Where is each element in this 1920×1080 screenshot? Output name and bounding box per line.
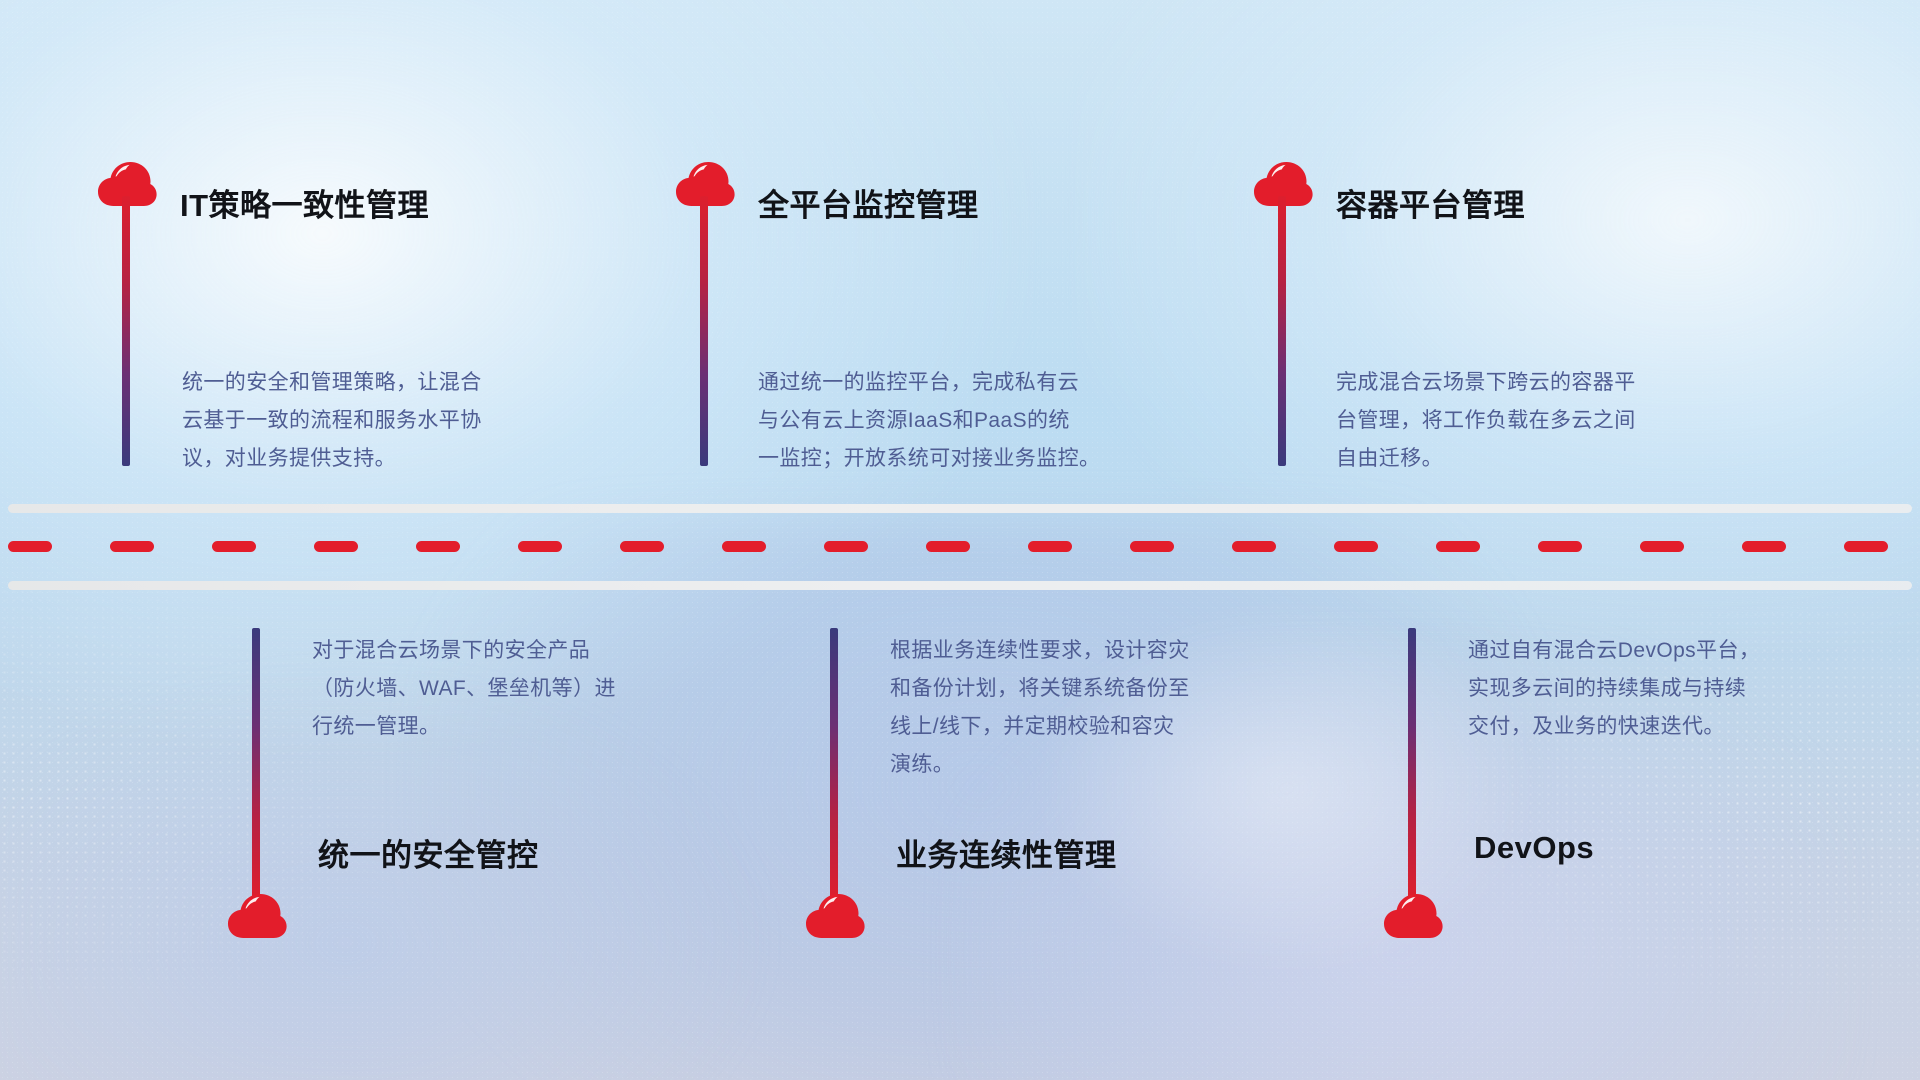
body-line: 议，对业务提供支持。 bbox=[182, 440, 562, 478]
rule-line-top bbox=[8, 504, 1912, 513]
body-line: 根据业务连续性要求，设计容灾 bbox=[890, 632, 1270, 670]
card-heading: 业务连续性管理 bbox=[896, 830, 1117, 875]
card-body: 完成混合云场景下跨云的容器平 台管理，将工作负载在多云之间 自由迁移。 bbox=[1336, 364, 1716, 478]
connector-stem bbox=[1278, 196, 1286, 466]
body-line: 线上/线下，并定期校验和容灾 bbox=[890, 708, 1270, 746]
body-line: 实现多云间的持续集成与持续 bbox=[1468, 670, 1848, 708]
dash-segment bbox=[1436, 541, 1480, 552]
connector-stem bbox=[252, 628, 260, 898]
cloud-icon bbox=[1382, 892, 1444, 940]
dash-segment bbox=[518, 541, 562, 552]
card-body: 根据业务连续性要求，设计容灾 和备份计划，将关键系统备份至 线上/线下，并定期校… bbox=[890, 632, 1270, 784]
dash-segment bbox=[824, 541, 868, 552]
dash-segment bbox=[8, 541, 52, 552]
body-line: 通过统一的监控平台，完成私有云 bbox=[758, 364, 1138, 402]
body-line: （防火墙、WAF、堡垒机等）进 bbox=[312, 670, 692, 708]
cloud-icon bbox=[804, 892, 866, 940]
dash-segment bbox=[1334, 541, 1378, 552]
body-line: 完成混合云场景下跨云的容器平 bbox=[1336, 364, 1716, 402]
card-body: 通过自有混合云DevOps平台， 实现多云间的持续集成与持续 交付，及业务的快速… bbox=[1468, 632, 1848, 746]
dash-segment bbox=[1640, 541, 1684, 552]
connector-stem bbox=[1408, 628, 1416, 898]
connector-stem bbox=[122, 196, 130, 466]
infographic-canvas: IT策略一致性管理 统一的安全和管理策略，让混合 云基于一致的流程和服务水平协 … bbox=[0, 0, 1920, 1080]
card-body: 对于混合云场景下的安全产品 （防火墙、WAF、堡垒机等）进 行统一管理。 bbox=[312, 632, 692, 746]
dash-segment bbox=[1742, 541, 1786, 552]
card-heading: 全平台监控管理 bbox=[758, 180, 979, 225]
dash-segment bbox=[722, 541, 766, 552]
body-line: 一监控；开放系统可对接业务监控。 bbox=[758, 440, 1138, 478]
dash-segment bbox=[1028, 541, 1072, 552]
dash-segment bbox=[1844, 541, 1888, 552]
dash-segment bbox=[1130, 541, 1174, 552]
card-body: 统一的安全和管理策略，让混合 云基于一致的流程和服务水平协 议，对业务提供支持。 bbox=[182, 364, 562, 478]
cloud-icon bbox=[226, 892, 288, 940]
card-heading: DevOps bbox=[1474, 830, 1594, 866]
card-body: 通过统一的监控平台，完成私有云 与公有云上资源IaaS和PaaS的统 一监控；开… bbox=[758, 364, 1138, 478]
card-heading: 统一的安全管控 bbox=[318, 830, 539, 875]
dash-segment bbox=[1232, 541, 1276, 552]
dash-segment bbox=[110, 541, 154, 552]
body-line: 与公有云上资源IaaS和PaaS的统 bbox=[758, 402, 1138, 440]
body-line: 交付，及业务的快速迭代。 bbox=[1468, 708, 1848, 746]
dash-segment bbox=[416, 541, 460, 552]
card-heading: 容器平台管理 bbox=[1336, 180, 1525, 225]
dashed-separator bbox=[0, 541, 1920, 552]
body-line: 台管理，将工作负载在多云之间 bbox=[1336, 402, 1716, 440]
dash-segment bbox=[620, 541, 664, 552]
body-line: 和备份计划，将关键系统备份至 bbox=[890, 670, 1270, 708]
connector-stem bbox=[700, 196, 708, 466]
dash-segment bbox=[314, 541, 358, 552]
card-heading: IT策略一致性管理 bbox=[180, 180, 429, 225]
body-line: 行统一管理。 bbox=[312, 708, 692, 746]
body-line: 演练。 bbox=[890, 746, 1270, 784]
body-line: 对于混合云场景下的安全产品 bbox=[312, 632, 692, 670]
connector-stem bbox=[830, 628, 838, 898]
dash-segment bbox=[212, 541, 256, 552]
divider bbox=[0, 490, 1920, 600]
body-line: 通过自有混合云DevOps平台， bbox=[1468, 632, 1848, 670]
background-dot-pattern-left bbox=[0, 560, 420, 990]
body-line: 云基于一致的流程和服务水平协 bbox=[182, 402, 562, 440]
dash-segment bbox=[926, 541, 970, 552]
body-line: 自由迁移。 bbox=[1336, 440, 1716, 478]
rule-line-bottom bbox=[8, 581, 1912, 590]
dash-segment bbox=[1538, 541, 1582, 552]
body-line: 统一的安全和管理策略，让混合 bbox=[182, 364, 562, 402]
